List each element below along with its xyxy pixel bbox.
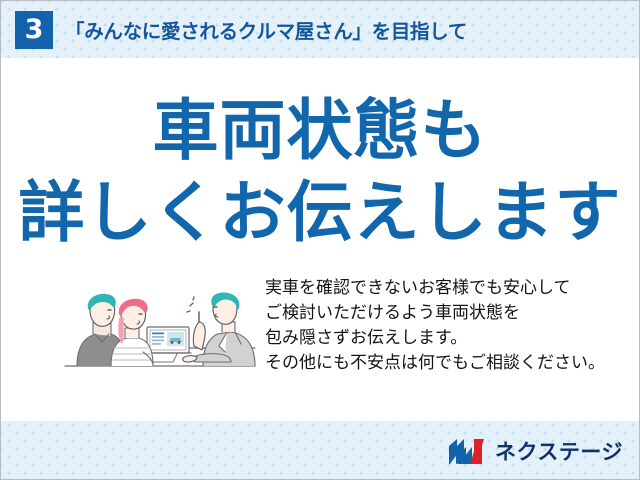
body-copy-line-2: ご検討いただけるよう車両状態を [265,301,615,326]
lower-content-row: 実車を確認できないお客様でも安心して ご検討いただけるよう車両状態を 包み隠さず… [1,270,639,400]
body-copy: 実車を確認できないお客様でも安心して ご検討いただけるよう車両状態を 包み隠さず… [265,276,615,376]
headline-line-2: 詳しくお伝えします [1,180,639,246]
brand-name: ネクステージ [495,436,623,466]
advertisement-banner: 3 「みんなに愛されるクルマ屋さん」を目指して 車両状態も 詳しくお伝えします [0,0,640,480]
step-number-badge: 3 [15,11,53,49]
body-copy-line-4: その他にも不安点は何でもご相談ください。 [265,351,615,376]
content-card: 車両状態も 詳しくお伝えします [1,58,639,421]
nextage-n-logo-icon [448,438,488,465]
header-bar: 3 「みんなに愛されるクルマ屋さん」を目指して [1,1,639,58]
body-copy-line-1: 実車を確認できないお客様でも安心して [265,276,615,301]
consultation-illustration [59,270,259,385]
body-copy-line-3: 包み隠さずお伝えします。 [265,326,615,351]
header-title: 「みんなに愛されるクルマ屋さん」を目指して [65,15,467,44]
brand-logo: ネクステージ [448,435,623,467]
headline: 車両状態も 詳しくお伝えします [1,98,639,246]
headline-line-1: 車両状態も [1,98,639,164]
